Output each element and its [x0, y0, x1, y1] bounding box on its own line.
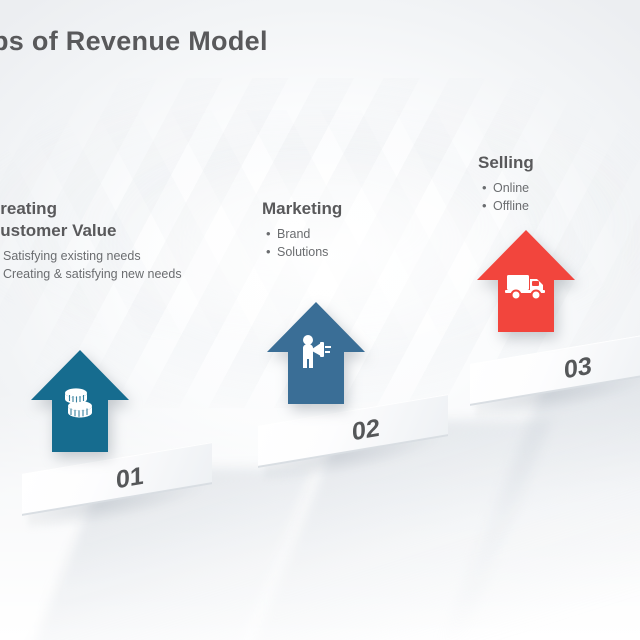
step-02-bullet-2: Solutions — [277, 244, 442, 261]
step-03-bullet-1: Online — [493, 180, 628, 197]
step-02-caption: Marketing Brand Solutions — [262, 198, 442, 262]
step-03-title-line1: Selling — [478, 152, 628, 174]
step-03-number: 03 — [564, 352, 592, 386]
step-03-caption: Selling Online Offline — [478, 152, 628, 216]
step-02-platform: 02 — [258, 410, 448, 472]
step-01-number: 01 — [116, 462, 144, 496]
step-01-title-line2: Customer Value — [0, 220, 188, 242]
step-01-caption: Creating Customer Value Satisfying exist… — [0, 198, 188, 284]
step-01-bullet-1: Satisfying existing needs — [3, 248, 188, 265]
step-01-bullet-2: Creating & satisfying new needs — [3, 266, 188, 283]
page-title: ps of Revenue Model — [0, 26, 268, 57]
step-01-title-line1: Creating — [0, 198, 188, 220]
step-03-platform: 03 — [470, 348, 640, 410]
step-02-title-line1: Marketing — [262, 198, 442, 220]
delivery-truck-icon — [500, 262, 554, 310]
step-03-bullet-2: Offline — [493, 198, 628, 215]
slide-canvas: ps of Revenue Model 01 — [0, 0, 640, 640]
step-02-bullet-list: Brand Solutions — [262, 226, 442, 262]
step-02-number: 02 — [352, 414, 380, 448]
step-01-platform: 01 — [22, 458, 212, 520]
megaphone-person-icon — [290, 328, 344, 378]
step-02-bullet-1: Brand — [277, 226, 442, 243]
step-01-bullet-list: Satisfying existing needs Creating & sat… — [0, 248, 188, 284]
step-03-bullet-list: Online Offline — [478, 180, 628, 216]
coins-icon — [52, 378, 108, 430]
